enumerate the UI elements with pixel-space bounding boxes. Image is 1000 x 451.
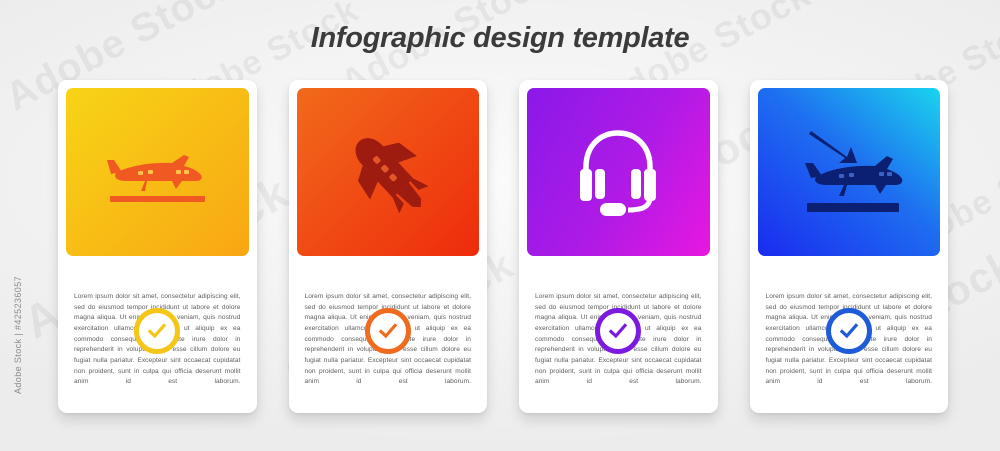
status-badge xyxy=(826,308,872,354)
card-icon-panel xyxy=(297,88,480,256)
missile-icon xyxy=(332,122,444,222)
status-badge xyxy=(365,308,411,354)
plane-landing-icon xyxy=(98,130,216,214)
info-card[interactable]: Lorem ipsum dolor sit amet, consectetur … xyxy=(58,80,257,413)
card-icon-panel xyxy=(527,88,710,256)
headset-icon xyxy=(570,123,666,221)
stock-credit-label: Adobe Stock | #425236057 xyxy=(13,270,23,400)
card-icon-panel xyxy=(758,88,941,256)
check-icon xyxy=(607,320,629,342)
info-card[interactable]: Lorem ipsum dolor sit amet, consectetur … xyxy=(519,80,718,413)
info-card[interactable]: Lorem ipsum dolor sit amet, consectetur … xyxy=(750,80,949,413)
card-icon-panel xyxy=(66,88,249,256)
plane-landing-arrow-icon xyxy=(789,123,909,221)
status-badge xyxy=(595,308,641,354)
status-badge xyxy=(134,308,180,354)
check-icon xyxy=(838,320,860,342)
card-list: Lorem ipsum dolor sit amet, consectetur … xyxy=(58,80,948,413)
check-icon xyxy=(377,320,399,342)
check-icon xyxy=(146,320,168,342)
info-card[interactable]: Lorem ipsum dolor sit amet, consectetur … xyxy=(289,80,488,413)
page-title: Infographic design template xyxy=(0,22,1000,55)
infographic-canvas: Adobe Stock Adobe Stock Adobe Stock Adob… xyxy=(0,0,1000,451)
